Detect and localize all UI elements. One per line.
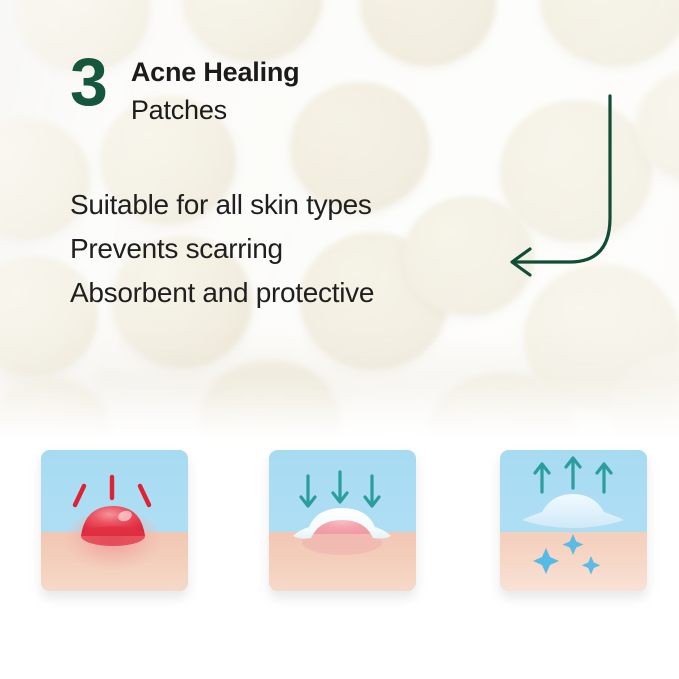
patch-absorbing-illustration: [269, 450, 416, 591]
product-infographic: 3 Acne Healing Patches Suitable for all …: [0, 0, 679, 679]
benefit-item: Absorbent and protective: [70, 271, 374, 315]
headline-text-group: Acne Healing Patches: [131, 52, 300, 127]
benefit-item: Prevents scarring: [70, 227, 374, 271]
illustration-panel-inflamed-pimple: [41, 450, 188, 591]
saturated-patch: [522, 494, 624, 528]
headline-block: 3 Acne Healing Patches: [70, 52, 299, 127]
patch-removed-illustration: [500, 450, 647, 591]
benefit-item: Suitable for all skin types: [70, 183, 374, 227]
red-irritation-lines-icon: [75, 477, 149, 505]
page-title-light: Patches: [131, 93, 300, 127]
illustration-panel-patch-applied: [269, 450, 416, 591]
curved-down-left-arrow-icon: [486, 86, 636, 286]
sparkle-icon: [533, 534, 600, 575]
step-numeral: 3: [70, 52, 107, 112]
illustration-panel-healed-absorbed: [500, 450, 647, 591]
benefit-list: Suitable for all skin types Prevents sca…: [70, 183, 374, 315]
background-patch-dot: [0, 378, 110, 446]
up-arrows-icon: [535, 458, 611, 492]
pimple-illustration: [41, 450, 188, 591]
background-patch-dot: [430, 372, 576, 446]
page-title-bold: Acne Healing: [131, 56, 300, 88]
down-arrows-icon: [301, 472, 379, 506]
